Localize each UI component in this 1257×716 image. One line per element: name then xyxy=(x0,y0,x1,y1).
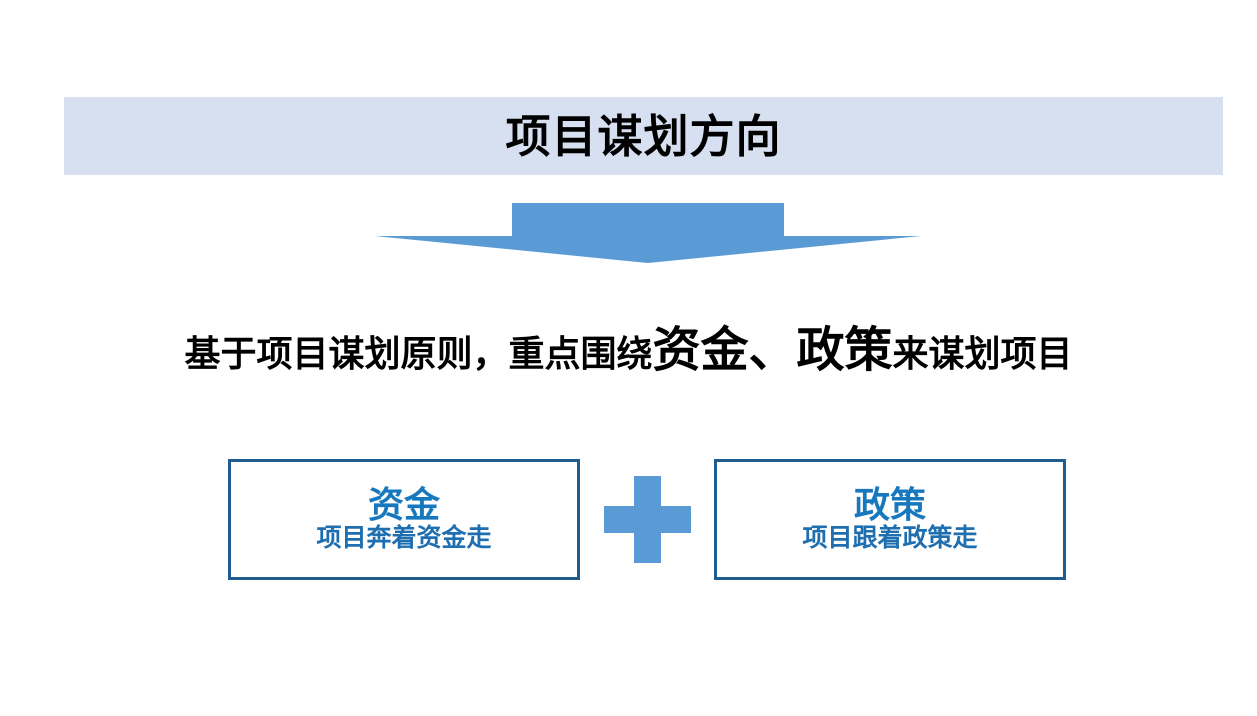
page-title: 项目谋划方向 xyxy=(505,114,781,159)
pillar-title: 资金 xyxy=(368,486,440,524)
statement-suffix: 来谋划项目 xyxy=(893,333,1073,374)
pillar-title: 政策 xyxy=(854,486,926,524)
statement-prefix: 基于项目谋划原则，重点围绕 xyxy=(184,333,652,374)
statement-line: 基于项目谋划原则，重点围绕资金、政策来谋划项目 xyxy=(0,326,1257,376)
title-banner: 项目谋划方向 xyxy=(64,97,1223,175)
pillar-card-policy[interactable]: 政策 项目跟着政策走 xyxy=(714,459,1066,580)
down-arrow-icon xyxy=(375,198,921,268)
slide-canvas: 项目谋划方向 基于项目谋划原则，重点围绕资金、政策来谋划项目 资金 项目奔着资金… xyxy=(0,0,1257,716)
plus-icon xyxy=(604,476,691,563)
pillar-subtitle: 项目奔着资金走 xyxy=(316,525,491,553)
pillar-card-funding[interactable]: 资金 项目奔着资金走 xyxy=(228,459,580,580)
pillar-subtitle: 项目跟着政策走 xyxy=(802,525,977,553)
statement-emphasis: 资金、政策 xyxy=(652,324,892,377)
